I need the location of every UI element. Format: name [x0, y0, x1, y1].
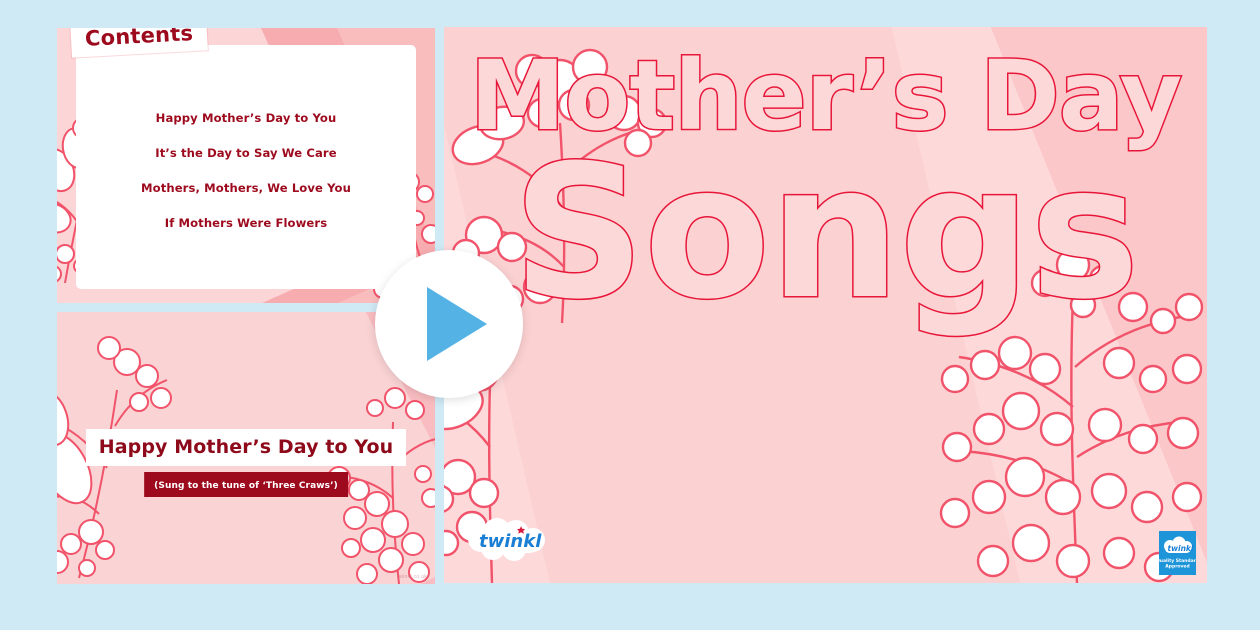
slide-background-song-1: Happy Mother’s Day to You (Sung to the t… [57, 312, 435, 584]
song-title-text: Happy Mother’s Day to You [99, 436, 394, 458]
contents-card: Happy Mother’s Day to You It’s the Day t… [76, 45, 416, 289]
play-button[interactable] [375, 250, 523, 398]
twinkl-logo-text: twinkl [479, 531, 542, 552]
slide-thumbnail-contents[interactable]: Happy Mother’s Day to You It’s the Day t… [57, 28, 435, 303]
contents-heading-text: Contents [84, 28, 193, 51]
play-triangle-icon [427, 287, 487, 361]
badge-line-1: Quality Standard [1159, 558, 1196, 564]
badge-brand-text: twinkl [1168, 544, 1194, 553]
contents-list-item[interactable]: Mothers, Mothers, We Love You [76, 181, 416, 195]
contents-list-item[interactable]: It’s the Day to Say We Care [76, 146, 416, 160]
song-title-box: Happy Mother’s Day to You [86, 429, 406, 466]
twinkl-logo: twinkl [464, 517, 552, 561]
slide-background-contents: Happy Mother’s Day to You It’s the Day t… [57, 28, 435, 303]
slide-footer-code: twinkl.co.uk [398, 574, 427, 580]
contents-list-item[interactable]: If Mothers Were Flowers [76, 216, 416, 230]
contents-list-item[interactable]: Happy Mother’s Day to You [76, 111, 416, 125]
main-slide-preview[interactable]: Mother’s Day Songs twinkl [444, 27, 1207, 583]
contents-list: Happy Mother’s Day to You It’s the Day t… [76, 111, 416, 251]
slide-thumbnail-song-1[interactable]: Happy Mother’s Day to You (Sung to the t… [57, 312, 435, 584]
song-subtitle-box: (Sung to the tune of ‘Three Craws’) [144, 472, 348, 497]
main-slide-background: Mother’s Day Songs twinkl [444, 27, 1207, 583]
quality-standard-approved-badge: twinkl Quality Standard Approved [1159, 531, 1196, 575]
song-subtitle-text: (Sung to the tune of ‘Three Craws’) [154, 481, 338, 491]
badge-line-2: Approved [1165, 564, 1189, 570]
presentation-preview: Happy Mother’s Day to You It’s the Day t… [0, 0, 1260, 630]
